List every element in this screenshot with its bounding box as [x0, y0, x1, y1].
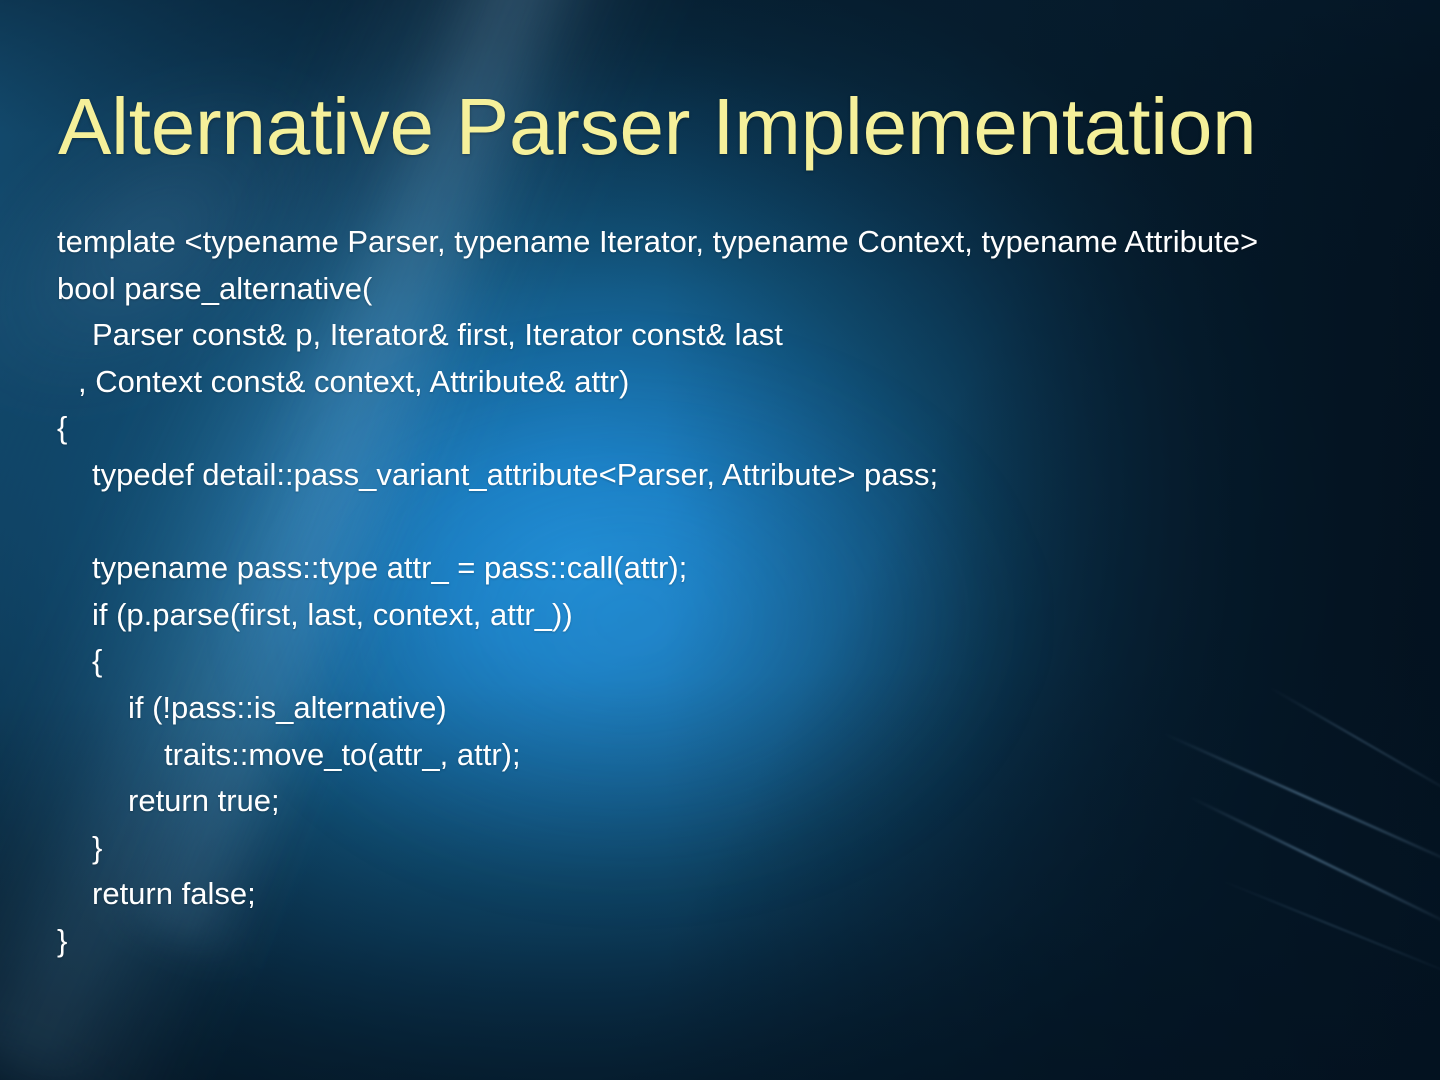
- presentation-slide: Alternative Parser Implementation templa…: [0, 0, 1440, 1080]
- slide-title: Alternative Parser Implementation: [58, 87, 1388, 167]
- code-line: return false;: [57, 871, 1397, 918]
- code-line: template <typename Parser, typename Iter…: [57, 219, 1397, 266]
- code-line: }: [57, 918, 1397, 965]
- code-line: {: [57, 638, 1397, 685]
- slide-content: Alternative Parser Implementation templa…: [0, 0, 1440, 1080]
- code-line: , Context const& context, Attribute& att…: [57, 359, 1397, 406]
- code-line: if (!pass::is_alternative): [57, 685, 1397, 732]
- code-line: typedef detail::pass_variant_attribute<P…: [57, 452, 1397, 499]
- code-line: typename pass::type attr_ = pass::call(a…: [57, 545, 1397, 592]
- code-line: }: [57, 825, 1397, 872]
- code-line: if (p.parse(first, last, context, attr_)…: [57, 592, 1397, 639]
- code-line: Parser const& p, Iterator& first, Iterat…: [57, 312, 1397, 359]
- code-line: bool parse_alternative(: [57, 266, 1397, 313]
- code-line: return true;: [57, 778, 1397, 825]
- code-listing: template <typename Parser, typename Iter…: [57, 219, 1397, 965]
- code-line: [57, 499, 1397, 546]
- code-line: {: [57, 405, 1397, 452]
- code-line: traits::move_to(attr_, attr);: [57, 732, 1397, 779]
